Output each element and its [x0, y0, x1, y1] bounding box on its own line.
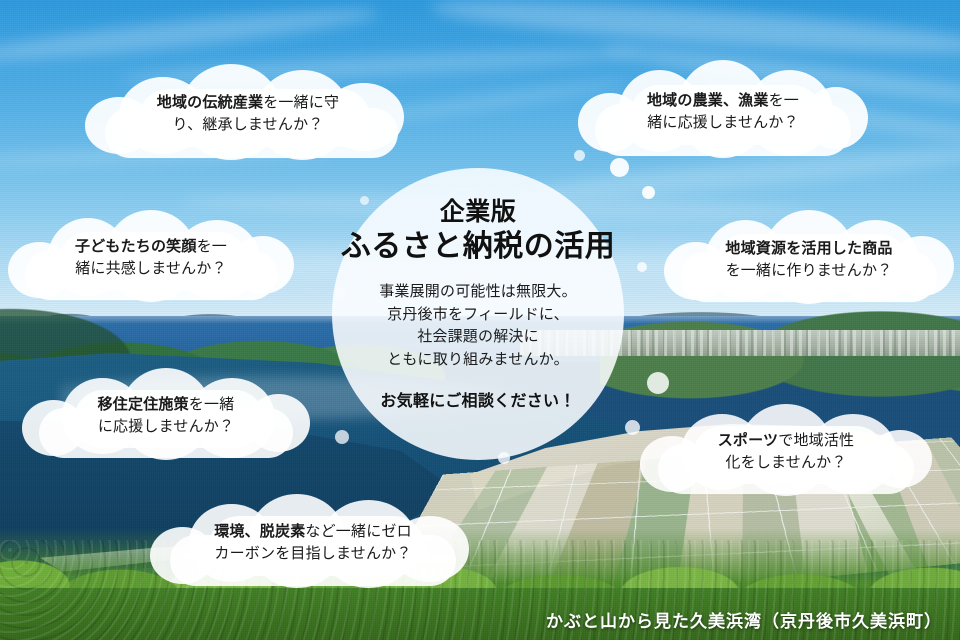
bubble-migration-settlement[interactable]: 移住定住施策を一緒 に応援しませんか？ — [22, 366, 310, 466]
bubble-tradition[interactable]: 地域の伝統産業を一緒に守 り、継承しませんか？ — [78, 62, 418, 166]
bubble-text-rest2: カーボンを目指しませんか？ — [214, 545, 411, 562]
bubble-text-rest2: に応援しませんか？ — [98, 418, 234, 435]
bubble-text: 環境、脱炭素など一緒にゼロ カーボンを目指しませんか？ — [198, 521, 428, 565]
center-title-line2: ふるさと納税の活用 — [341, 229, 616, 264]
bubble-text-bold: 地域の農業、漁業 — [647, 92, 769, 109]
center-body-line1: 事業展開の可能性は無限大。 — [379, 281, 577, 304]
bubble-text-bold: 移住定住施策 — [98, 396, 189, 413]
center-cta-text: お気軽にご相談ください！ — [380, 387, 575, 411]
bubble-text: 地域の伝統産業を一緒に守 り、継承しませんか？ — [141, 92, 355, 136]
bubble-text-rest2: 緒に共感しませんか？ — [75, 260, 227, 277]
bubble-text-bold: 地域の伝統産業 — [157, 94, 263, 111]
bubble-trail-dot — [637, 262, 647, 272]
bubble-text-rest1: を一 — [197, 238, 227, 255]
bubble-trail-dot — [335, 430, 349, 444]
bubble-text-rest2: 緒に応援しませんか？ — [647, 114, 799, 131]
center-body-line4: ともに取り組みませんか。 — [379, 349, 577, 372]
bubble-local-resources[interactable]: 地域資源を活用した商品 を一緒に作りませんか？ — [664, 210, 954, 310]
central-message-circle: 企業版 ふるさと納税の活用 事業展開の可能性は無限大。 京丹後市をフィールドに、… — [332, 168, 624, 460]
bubble-trail-dot — [625, 420, 640, 435]
center-body-text: 事業展開の可能性は無限大。 京丹後市をフィールドに、 社会課題の解決に ともに取… — [379, 281, 577, 372]
bubble-text-rest1: で地域活性 — [778, 432, 854, 449]
bubble-text-rest2: を一緒に作りませんか？ — [726, 262, 893, 279]
bubble-text-bold: 環境、脱炭素 — [214, 523, 305, 540]
bubble-text: スポーツで地域活性 化をしませんか？ — [702, 430, 871, 474]
bubble-text-rest1: を一 — [769, 92, 799, 109]
bubble-trail-dot — [642, 186, 655, 199]
bubble-text-bold: 子どもたちの笑顔 — [75, 238, 197, 255]
bubble-text: 子どもたちの笑顔を一 緒に共感しませんか？ — [59, 236, 243, 280]
bubble-children-smiles[interactable]: 子どもたちの笑顔を一 緒に共感しませんか？ — [8, 208, 294, 308]
photo-caption: かぶと山から見た久美浜湾（京丹後市久美浜町） — [546, 607, 942, 632]
center-body-line2: 京丹後市をフィールドに、 — [379, 304, 577, 327]
bubble-text: 移住定住施策を一緒 に応援しませんか？ — [82, 394, 251, 438]
bubble-text-bold: 地域資源を活用した商品 — [725, 240, 892, 257]
bubble-text-rest1: など一緒にゼロ — [305, 523, 411, 540]
bubble-text-bold: スポーツ — [718, 432, 779, 449]
bubble-text-rest1: を一緒に守 — [263, 94, 339, 111]
bubble-sports-revitalization[interactable]: スポーツで地域活性 化をしませんか？ — [640, 402, 932, 502]
poster-canvas: 企業版 ふるさと納税の活用 事業展開の可能性は無限大。 京丹後市をフィールドに、… — [0, 0, 960, 640]
bubble-text-rest2: 化をしませんか？ — [725, 454, 846, 471]
bubble-text: 地域資源を活用した商品 を一緒に作りませんか？ — [709, 238, 908, 282]
center-title-line1: 企業版 — [341, 198, 616, 228]
bubble-zero-carbon[interactable]: 環境、脱炭素など一緒にゼロ カーボンを目指しませんか？ — [150, 492, 476, 594]
center-title: 企業版 ふるさと納税の活用 — [341, 198, 616, 264]
bubble-trail-dot — [647, 372, 669, 394]
bubble-text-rest2: り、継承しませんか？ — [173, 116, 324, 133]
bubble-agriculture-fishery[interactable]: 地域の農業、漁業を一 緒に応援しませんか？ — [578, 60, 868, 164]
bubble-text-rest1: を一緒 — [189, 396, 235, 413]
bubble-text: 地域の農業、漁業を一 緒に応援しませんか？ — [631, 90, 815, 134]
center-body-line3: 社会課題の解決に — [379, 326, 577, 349]
